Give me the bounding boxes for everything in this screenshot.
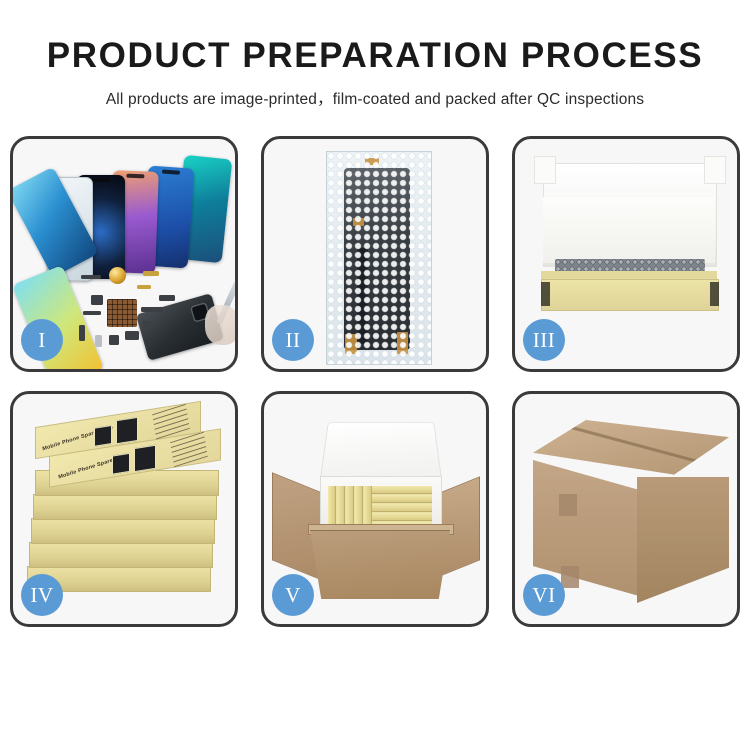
small-part [137,285,151,289]
stacked-box [29,542,213,568]
carton-right-face [637,477,729,603]
hand [205,305,235,345]
page-header: PRODUCT PREPARATION PROCESS All products… [0,0,750,109]
small-part [83,311,101,315]
stacked-box [33,494,217,520]
small-part [79,325,85,341]
process-step-panel-2: II [261,136,489,372]
carton-body [310,530,450,599]
step-badge-3: III [523,319,565,361]
small-part [91,295,103,305]
box-label-window [94,425,112,447]
foam-sheet [543,197,715,263]
small-part [125,331,139,340]
small-part [109,335,119,345]
phone-notch-icon [91,178,110,182]
small-part [143,321,151,329]
bubble-texture [327,152,431,364]
process-step-panel-5: V [261,391,489,627]
carton-tape-lower [561,566,579,588]
chip-grid-part [107,299,137,327]
box-label-window [116,417,138,444]
phone-notch-icon [126,174,145,179]
gold-coil-part [109,267,126,284]
step-badge-5: V [272,574,314,616]
box-front-panel [541,279,719,311]
stacked-box [31,518,215,544]
process-step-panel-6: VI [512,391,740,627]
bubble-wrap-bag [326,151,432,365]
box-label-window [134,445,156,472]
process-step-panel-1: I [10,136,238,372]
small-part [159,295,175,301]
packed-box [372,495,432,503]
small-part [143,271,159,276]
phone-notch-icon [162,169,181,174]
carton-seam [570,426,700,463]
small-part [141,307,163,312]
small-part [81,275,101,279]
packed-box [372,513,432,521]
process-step-grid: I II III [10,136,740,627]
foam-lid [320,422,443,482]
packed-box [372,486,432,494]
step-badge-1: I [21,319,63,361]
step-badge-4: IV [21,574,63,616]
packed-box [372,504,432,512]
box-label-spec-lines [170,432,208,468]
page-title: PRODUCT PREPARATION PROCESS [0,38,750,73]
box-label-window [112,453,130,475]
small-part [95,335,102,347]
box-label-spec-lines [152,404,190,440]
page-subtitle: All products are image-printed，film-coat… [0,87,750,109]
process-step-panel-4: Mobile Phone Spare Parts Mobile Phone Sp… [10,391,238,627]
step-badge-2: II [272,319,314,361]
step-badge-6: VI [523,574,565,616]
carton-tape-upper [559,494,577,516]
process-step-panel-3: III [512,136,740,372]
